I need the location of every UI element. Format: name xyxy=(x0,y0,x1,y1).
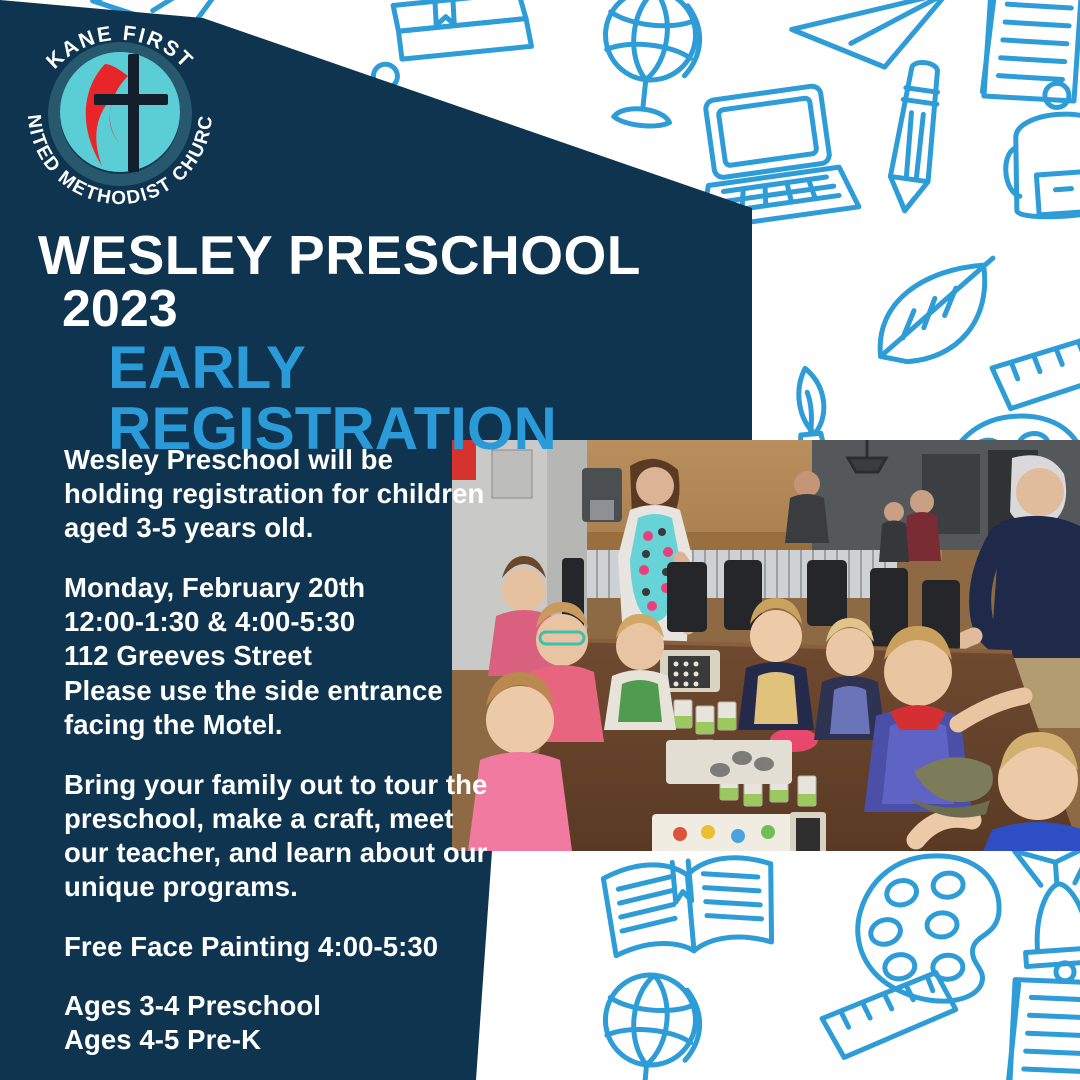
body-ages-prek: Ages 4-5 Pre-K xyxy=(64,1023,534,1057)
preschool-registration-flyer: KANE FIRST UNITED METHODIST CHURCH WESLE… xyxy=(0,0,1080,1080)
body-ages-preschool: Ages 3-4 Preschool xyxy=(64,989,534,1023)
body-p3-line3: our teacher, and learn about our xyxy=(64,836,534,870)
body-p2-line2: 12:00-1:30 & 4:00-5:30 xyxy=(64,605,534,639)
title-line-year: 2023 xyxy=(62,283,678,335)
body-p2-line4: Please use the side entrance xyxy=(64,674,534,708)
headline-block: WESLEY PRESCHOOL 2023 EARLY REGISTRATION xyxy=(38,228,678,459)
body-p1-line2: holding registration for children xyxy=(64,477,534,511)
classroom-photo xyxy=(452,440,1080,851)
title-line-wesley-preschool: WESLEY PRESCHOOL xyxy=(38,228,678,283)
body-p2-line1: Monday, February 20th xyxy=(64,571,534,605)
body-p3-line2: preschool, make a craft, meet xyxy=(64,802,534,836)
body-copy-block: Wesley Preschool will be holding registr… xyxy=(64,443,534,1057)
body-face-painting: Free Face Painting 4:00-5:30 xyxy=(64,930,534,964)
body-p3-line1: Bring your family out to tour the xyxy=(64,768,534,802)
church-logo: KANE FIRST UNITED METHODIST CHURCH xyxy=(10,2,230,217)
body-p1-line3: aged 3-5 years old. xyxy=(64,511,534,545)
title-line-early: EARLY xyxy=(108,337,678,398)
body-p2-line3: 112 Greeves Street xyxy=(64,639,534,673)
body-p1-line1: Wesley Preschool will be xyxy=(64,443,534,477)
body-p2-line5: facing the Motel. xyxy=(64,708,534,742)
body-p3-line4: unique programs. xyxy=(64,870,534,904)
